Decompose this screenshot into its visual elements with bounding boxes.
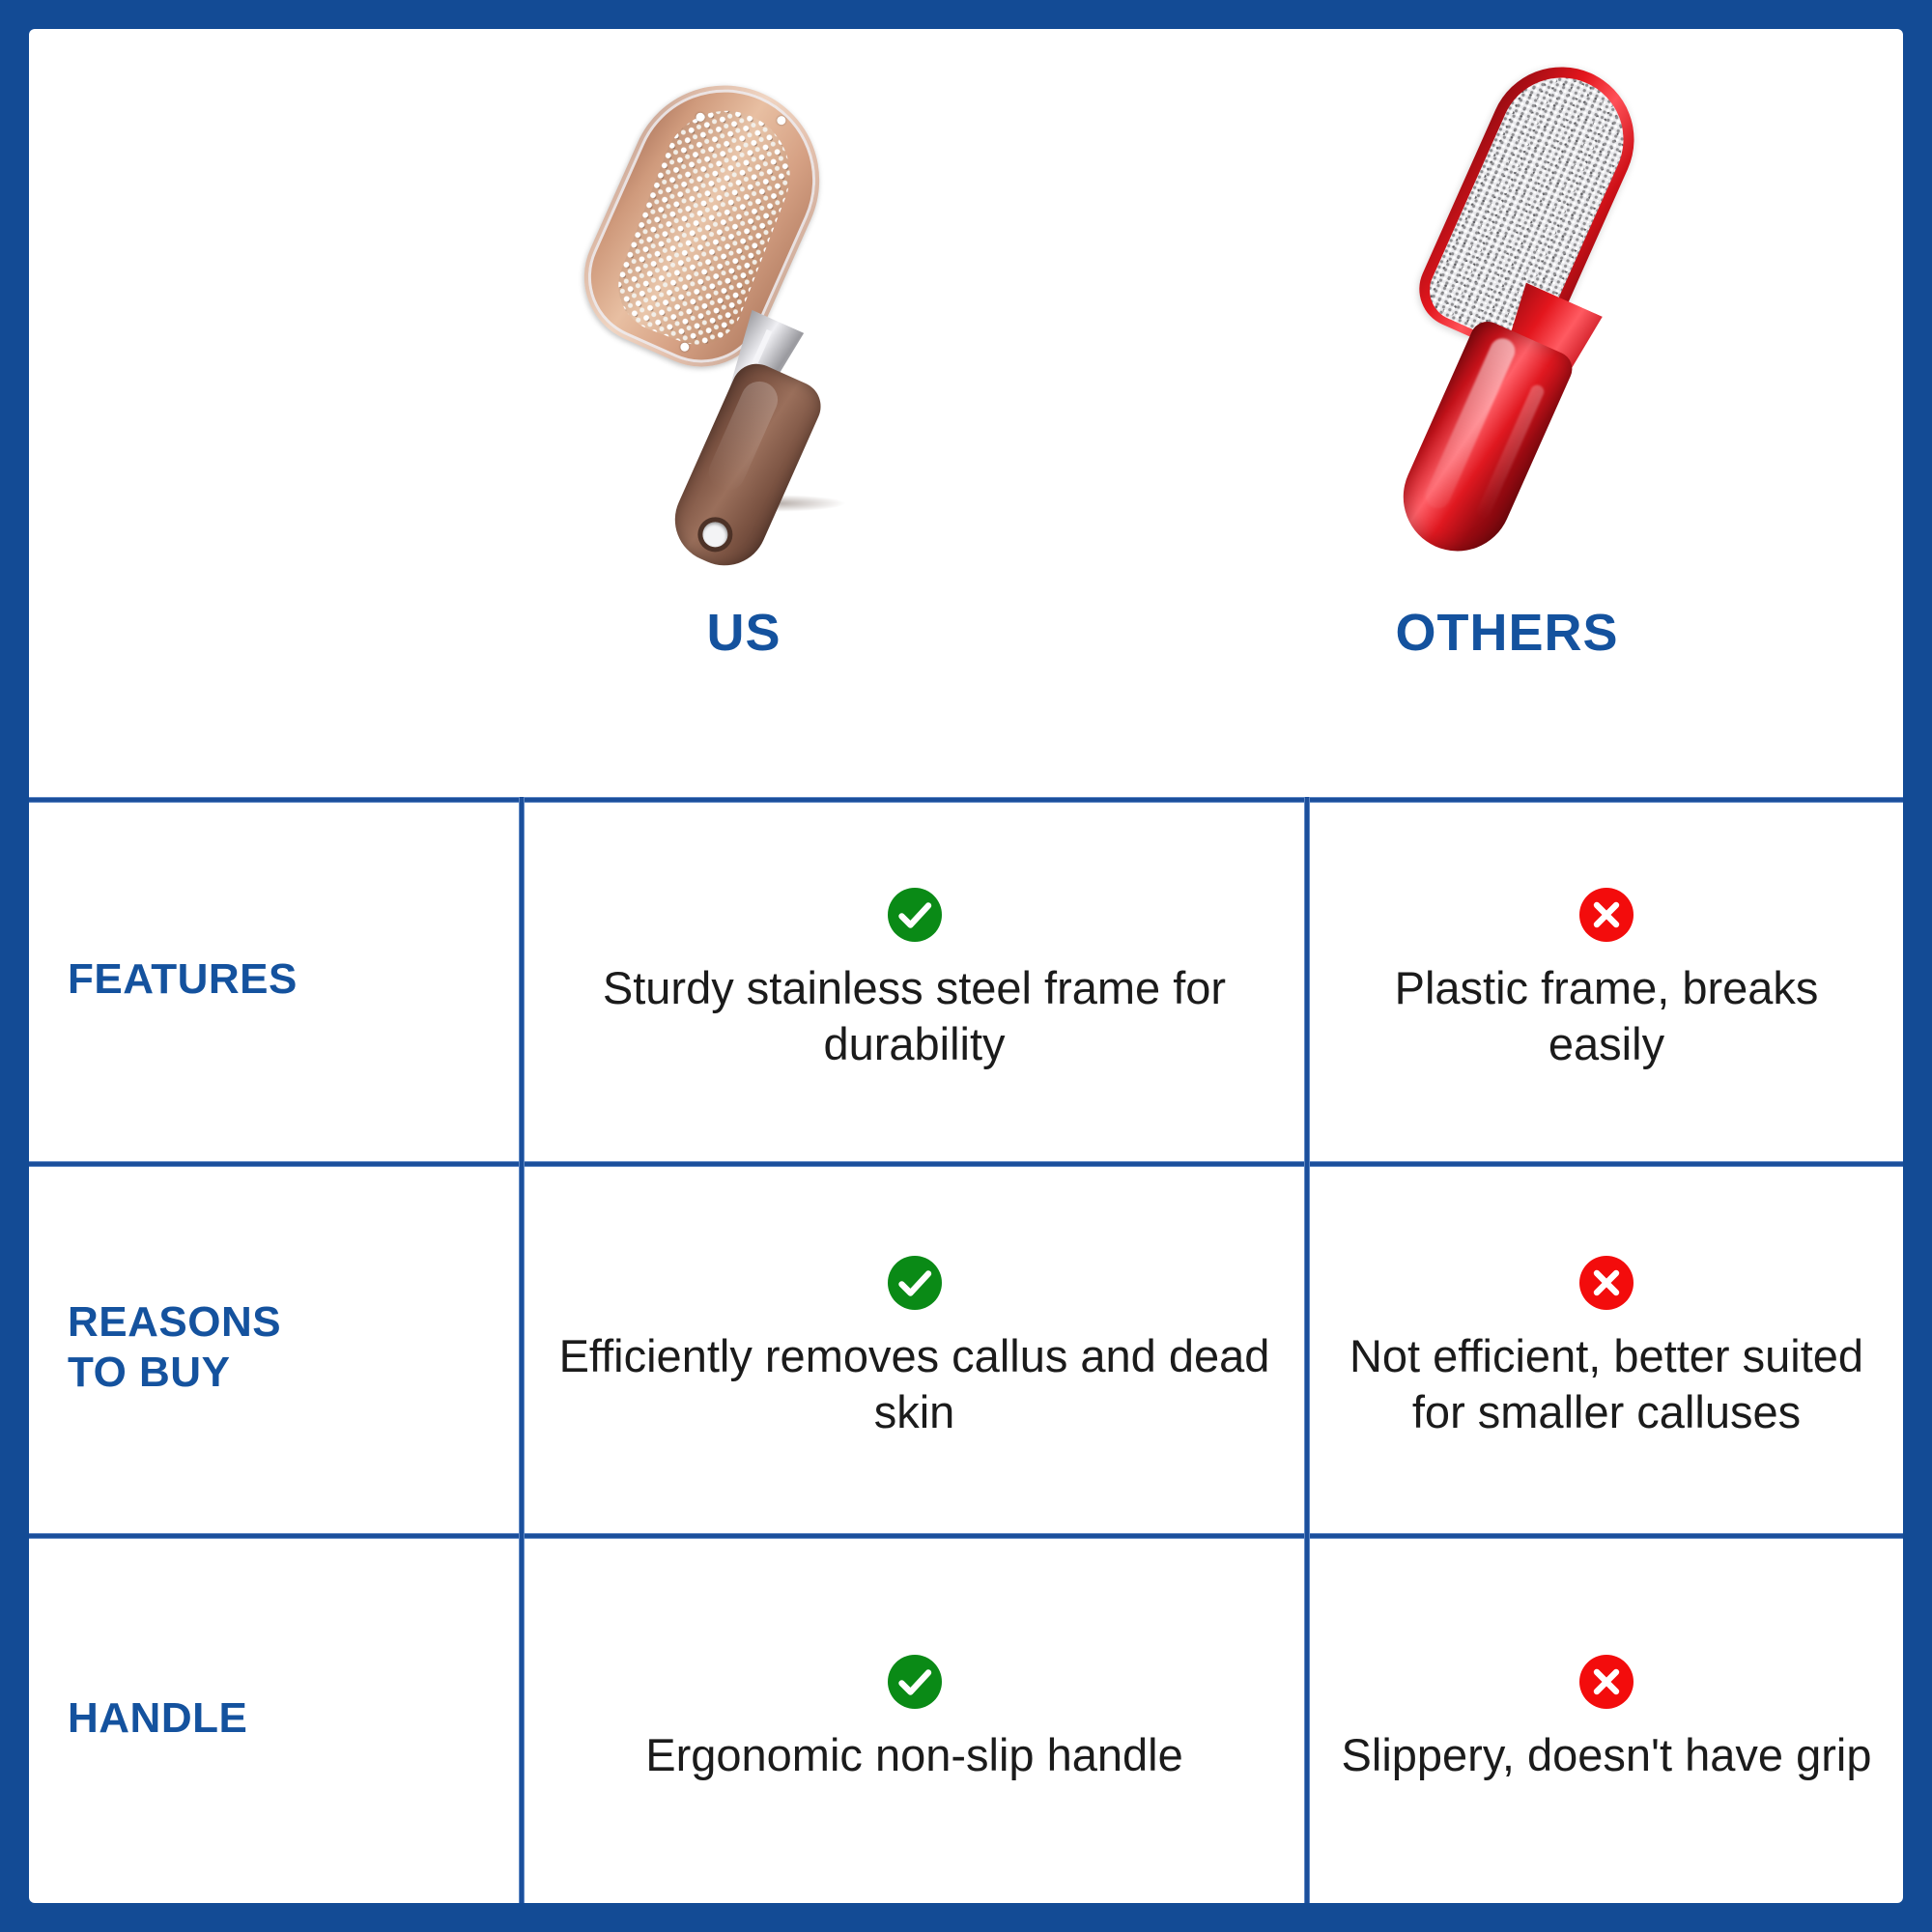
cell-text: Sturdy stainless steel frame for durabil… [546,960,1283,1071]
cell-text: Not efficient, better suited for smaller… [1331,1328,1882,1439]
handle-highlight-1 [1421,334,1519,512]
comparison-chart-frame: US OTHERS [0,0,1932,1932]
cross-circle-icon [1578,887,1634,943]
cell-features-others: Plastic frame, breaks easily [1310,797,1903,1161]
cell-handle-us: Ergonomic non-slip handle [525,1533,1304,1903]
product-image-us [406,29,1082,607]
cell-reasons-others: Not efficient, better suited for smaller… [1310,1161,1903,1533]
row-label-reasons-to-buy: REASONS TO BUY [29,1161,522,1533]
file-handle [1386,316,1577,568]
header-row: US OTHERS [29,29,1903,800]
file-head-plate [562,55,849,388]
cross-circle-icon [1578,1255,1634,1311]
check-circle-icon [887,1255,943,1311]
row-label-text: FEATURES [68,954,298,1005]
row-label-text: REASONS TO BUY [68,1297,281,1398]
file-rasp-surface [605,93,809,358]
check-circle-icon [887,887,943,943]
file-handle [662,355,829,579]
row-label-handle: HANDLE [29,1533,522,1903]
cell-text: Efficiently removes callus and dead skin [546,1328,1283,1439]
row-label-features: FEATURES [29,797,522,1161]
row-label-text: HANDLE [68,1693,247,1744]
column-title-others: OTHERS [1395,607,1618,800]
cross-circle-icon [1578,1654,1634,1710]
red-plastic-foot-file-illustration [1285,48,1729,560]
cell-text: Plastic frame, breaks easily [1331,960,1882,1071]
check-circle-icon [887,1654,943,1710]
cell-text: Ergonomic non-slip handle [645,1727,1183,1782]
stainless-steel-foot-file-illustration [531,68,956,551]
cell-handle-others: Slippery, doesn't have grip [1310,1533,1903,1903]
product-image-others [1082,29,1903,607]
column-title-us: US [706,607,781,800]
cell-features-us: Sturdy stainless steel frame for durabil… [525,797,1304,1161]
rivet-hole-2 [776,115,787,127]
handle-highlight [703,376,784,497]
comparison-sheet: US OTHERS [29,29,1903,1903]
header-column-us: US [406,29,1082,800]
cell-reasons-us: Efficiently removes callus and dead skin [525,1161,1304,1533]
cell-text: Slippery, doesn't have grip [1342,1727,1872,1782]
header-column-others: OTHERS [1082,29,1903,800]
